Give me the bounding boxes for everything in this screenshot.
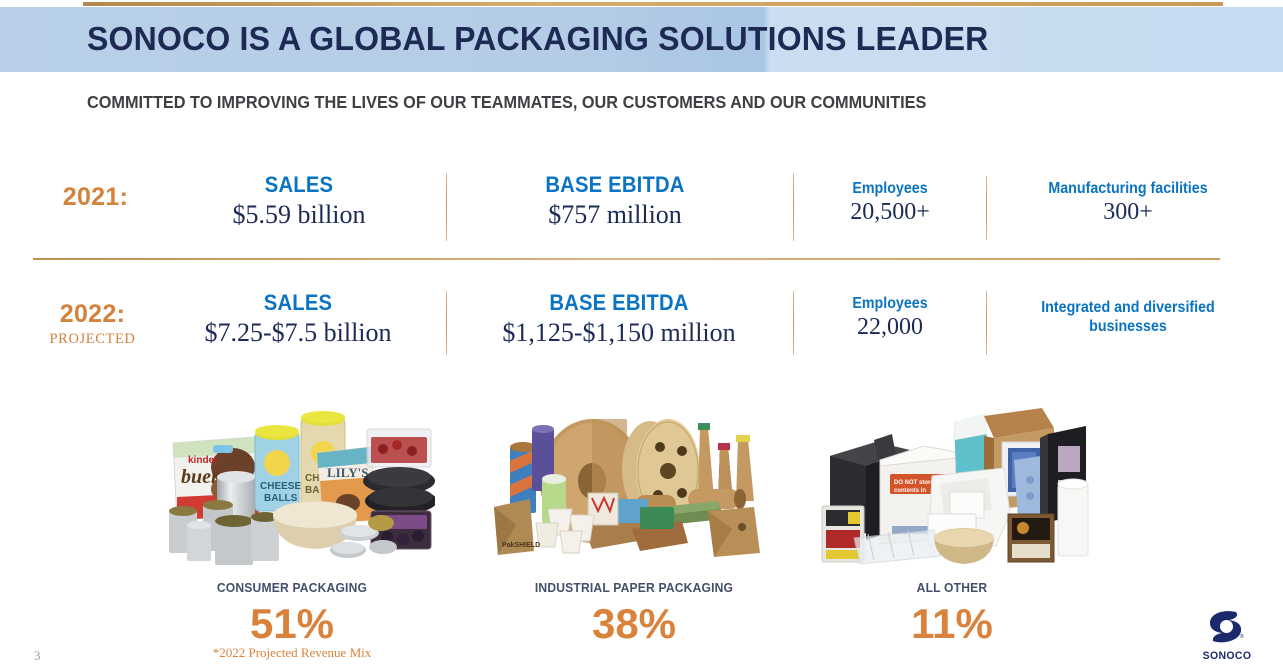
sonoco-wordmark: SONOCO bbox=[1198, 650, 1257, 662]
svg-text:LILY'S: LILY'S bbox=[327, 465, 368, 480]
segment-caption: INDUSTRIAL PAPER PACKAGING bbox=[522, 580, 745, 595]
page-number: 3 bbox=[34, 648, 41, 664]
stat-value: 20,500+ bbox=[805, 199, 975, 226]
segment-all-other: ALL OTHER 11% bbox=[832, 580, 1072, 649]
stat-label: Manufacturing facilities bbox=[1018, 180, 1239, 198]
segment-consumer-packaging: CONSUMER PACKAGING 51% *2022 Projected R… bbox=[172, 580, 412, 661]
stat-value: $1,125-$1,150 million bbox=[470, 318, 768, 348]
year-qualifier-label: PROJECTED bbox=[30, 331, 155, 348]
stat-sales-2022: SALES $7.25-$7.5 billion bbox=[178, 290, 418, 348]
stat-sales-2021: SALES $5.59 billion bbox=[180, 172, 418, 230]
svg-text:BALLS: BALLS bbox=[264, 493, 298, 504]
stat-value: 300+ bbox=[1008, 199, 1248, 226]
stat-base-ebitda-2021: BASE EBITDA $757 million bbox=[490, 172, 740, 230]
stat-employees-2021: Employees 20,500+ bbox=[805, 180, 975, 226]
industrial-paper-packaging-products-photo: PakSHIELD bbox=[492, 403, 777, 571]
stat-label: BASE EBITDA bbox=[482, 290, 756, 316]
page-title: SONOCO IS A GLOBAL PACKAGING SOLUTIONS L… bbox=[87, 15, 1183, 63]
sonoco-s-logo-icon: ® bbox=[1196, 610, 1258, 649]
page-subtitle: COMMITTED TO IMPROVING THE LIVES OF OUR … bbox=[87, 92, 926, 113]
stat-base-ebitda-2022: BASE EBITDA $1,125-$1,150 million bbox=[470, 290, 768, 348]
segment-percent: 11% bbox=[832, 599, 1072, 649]
svg-text:DO NOT store: DO NOT store bbox=[894, 480, 934, 486]
stat-label: BASE EBITDA bbox=[500, 172, 730, 198]
stat-value: $757 million bbox=[490, 200, 740, 230]
stat-row-year-2022: 2022: PROJECTED bbox=[30, 300, 155, 348]
stat-manufacturing-facilities-2021: Manufacturing facilities 300+ bbox=[1008, 180, 1248, 226]
stat-divider-vertical bbox=[986, 176, 987, 240]
stat-label: SALES bbox=[188, 290, 409, 316]
svg-text:PakSHIELD: PakSHIELD bbox=[502, 542, 540, 549]
segment-caption: ALL OTHER bbox=[840, 580, 1063, 595]
stat-divider-vertical bbox=[793, 173, 794, 241]
segment-industrial-paper-packaging: INDUSTRIAL PAPER PACKAGING 38% bbox=[514, 580, 754, 649]
year-label: 2022: bbox=[30, 300, 155, 329]
stat-value: 22,000 bbox=[805, 314, 975, 341]
stat-label: Integrated and diversified businesses bbox=[1018, 298, 1239, 336]
top-accent-bar bbox=[83, 2, 1223, 6]
stat-rows-divider bbox=[33, 258, 1220, 260]
stat-divider-vertical bbox=[793, 291, 794, 355]
stat-divider-vertical bbox=[446, 291, 447, 355]
slide-canvas: SONOCO IS A GLOBAL PACKAGING SOLUTIONS L… bbox=[0, 0, 1283, 664]
svg-text:kinder: kinder bbox=[188, 455, 218, 466]
stat-value: $5.59 billion bbox=[180, 200, 418, 230]
stat-employees-2022: Employees 22,000 bbox=[805, 295, 975, 341]
stat-row-year-2021: 2021: bbox=[33, 183, 158, 212]
segment-percent: 51% bbox=[172, 599, 412, 649]
svg-text:®: ® bbox=[1240, 633, 1244, 640]
stat-label: Employees bbox=[812, 295, 968, 313]
svg-text:CHEESE: CHEESE bbox=[260, 481, 301, 492]
stat-integrated-diversified-2022: Integrated and diversified businesses bbox=[1008, 298, 1248, 336]
svg-text:contents in: contents in bbox=[894, 488, 926, 494]
stat-label: SALES bbox=[190, 172, 409, 198]
stat-divider-vertical bbox=[986, 291, 987, 355]
year-label: 2021: bbox=[33, 183, 158, 212]
segment-percent: 38% bbox=[514, 599, 754, 649]
segment-footnote: *2022 Projected Revenue Mix bbox=[172, 645, 412, 661]
sonoco-logo: ® SONOCO bbox=[1196, 610, 1258, 658]
stat-value: $7.25-$7.5 billion bbox=[178, 318, 418, 348]
all-other-products-photo: DO NOT store contents in bbox=[818, 398, 1096, 570]
stat-divider-vertical bbox=[446, 173, 447, 241]
consumer-packaging-products-photo: kinder bueno mini CHEESE BALLS CHEE BALL bbox=[155, 405, 435, 570]
segment-caption: CONSUMER PACKAGING bbox=[180, 580, 403, 595]
stat-label: Employees bbox=[812, 180, 968, 198]
